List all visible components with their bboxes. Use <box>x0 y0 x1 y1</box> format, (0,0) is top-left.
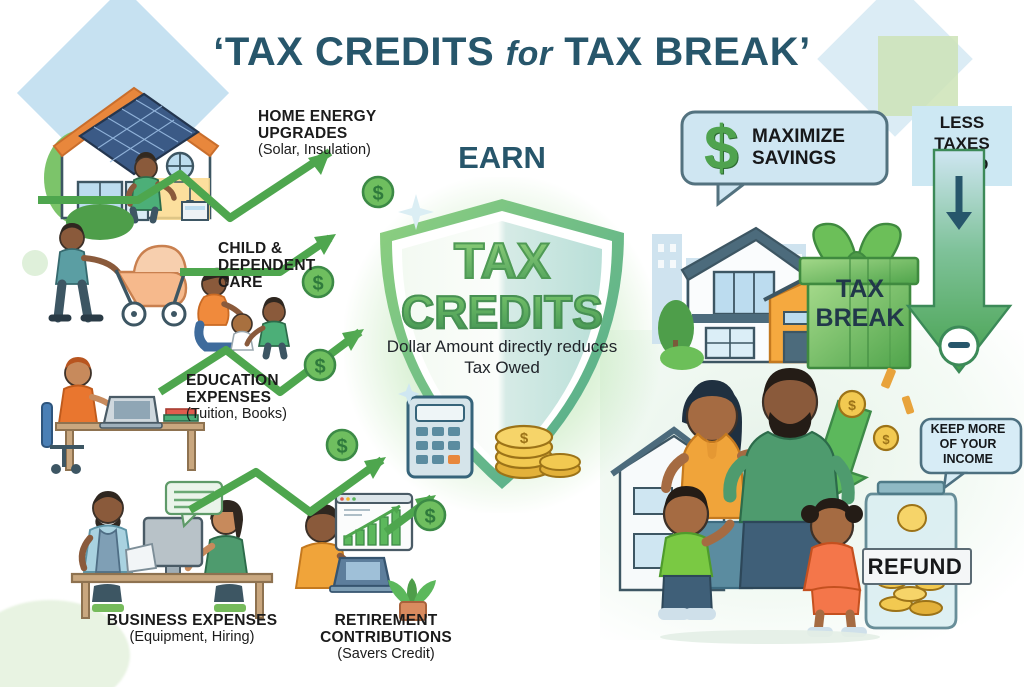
dollar-sign-icon: $ <box>704 118 738 180</box>
svg-text:$: $ <box>314 356 325 378</box>
maximize-savings-label: MAXIMIZE SAVINGS <box>752 126 917 170</box>
ground-shadow <box>660 630 880 644</box>
page-title: ‘TAX CREDITS for TAX BREAK’ <box>0 30 1024 75</box>
infographic-canvas: ‘TAX CREDITS for TAX BREAK’ <box>0 0 1024 687</box>
credit-subtext: (Solar, Insulation) <box>258 142 376 159</box>
title-part-2: for <box>506 35 553 73</box>
credit-label-retirement-contributions: RETIREMENT CONTRIBUTIONS (Savers Credit) <box>286 612 486 663</box>
credit-heading: RETIREMENT CONTRIBUTIONS <box>286 612 486 646</box>
svg-text:$: $ <box>520 430 529 447</box>
credit-label-education-expenses: EDUCATION EXPENSES (Tuition, Books) <box>186 372 287 423</box>
credit-subtext: (Savers Credit) <box>286 646 486 663</box>
credit-subtext: (Tuition, Books) <box>186 406 287 423</box>
title-part-1: ‘TAX CREDITS <box>213 30 494 74</box>
credit-label-business-expenses: BUSINESS EXPENSES (Equipment, Hiring) <box>84 612 300 646</box>
shield-caption: Dollar Amount directly reduces Tax Owed <box>372 336 632 378</box>
credit-heading: HOME ENERGY UPGRADES <box>258 108 376 142</box>
credit-label-child-dependent-care: CHILD & DEPENDENT CARE <box>218 240 315 291</box>
family-illustration <box>620 350 880 640</box>
tax-break-label: TAX BREAK <box>805 275 915 333</box>
credit-label-home-energy: HOME ENERGY UPGRADES (Solar, Insulation) <box>258 108 376 159</box>
sparkle-icon <box>396 192 436 232</box>
title-part-3: TAX BREAK’ <box>564 30 810 74</box>
calculator-illustration: $ <box>400 385 590 495</box>
tax-reduction-down-arrow <box>900 150 1020 390</box>
keep-more-income-label: KEEP MORE OF YOUR INCOME <box>922 422 1014 467</box>
svg-text:$: $ <box>882 432 890 447</box>
credit-heading: BUSINESS EXPENSES <box>84 612 300 629</box>
credit-subtext: (Equipment, Hiring) <box>84 629 300 646</box>
credit-heading: CHILD & DEPENDENT CARE <box>218 240 315 291</box>
refund-label: REFUND <box>866 554 964 580</box>
earn-label: EARN <box>372 140 632 176</box>
credit-heading: EDUCATION EXPENSES <box>186 372 287 406</box>
